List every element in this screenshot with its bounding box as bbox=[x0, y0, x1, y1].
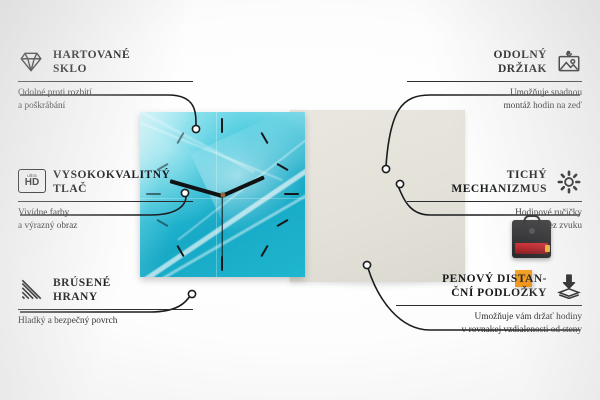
title-line-1: BRÚSENÉ bbox=[53, 276, 111, 290]
infographic-canvas: HARTOVANÉ SKLO Odolné proti rozbití a po… bbox=[0, 0, 600, 400]
feature-divider bbox=[407, 201, 582, 202]
desc-line-1: Vivídne farby bbox=[18, 207, 193, 220]
hour-tick bbox=[284, 193, 299, 195]
desc-line-2: bez zvuku bbox=[407, 220, 582, 233]
title-line-2: SKLO bbox=[53, 62, 130, 76]
diagonal-lines-icon bbox=[18, 277, 44, 303]
feature-header: HARTOVANÉ SKLO bbox=[18, 48, 193, 76]
feature-header: ODOLNÝ DRŽIAK bbox=[407, 48, 582, 76]
feature-foam-spacers: PENOVÝ DISTAN- ČNÍ PODLOŽKY Umožňuje vám… bbox=[396, 272, 582, 337]
desc-line-2: a výrazný obraz bbox=[18, 220, 193, 233]
title-line-2: HRANY bbox=[53, 290, 111, 304]
feature-header: BRÚSENÉ HRANY bbox=[18, 276, 193, 304]
feature-silent-mechanism: TICHÝ MECHANIZMUS Hodinové ručičky bez z… bbox=[407, 168, 582, 233]
desc-line-2: montáž hodin na zeď bbox=[407, 100, 582, 113]
feature-tempered-glass: HARTOVANÉ SKLO Odolné proti rozbití a po… bbox=[18, 48, 193, 113]
feature-durable-hanger: ODOLNÝ DRŽIAK Umožňuje snadnou montáž ho… bbox=[407, 48, 582, 113]
clock-hub bbox=[220, 192, 225, 197]
badge-main-label: HD bbox=[25, 178, 39, 188]
press-layers-icon bbox=[556, 273, 582, 299]
title-line-2: DRŽIAK bbox=[494, 62, 547, 76]
feature-title: PENOVÝ DISTAN- ČNÍ PODLOŽKY bbox=[442, 272, 547, 300]
feature-title: ODOLNÝ DRŽIAK bbox=[494, 48, 547, 76]
battery bbox=[515, 243, 548, 254]
ultra-hd-badge-icon: ultra HD bbox=[18, 169, 44, 195]
feature-description: Umožňuje vám držať hodiny v rovnakej vzd… bbox=[396, 311, 582, 337]
feature-divider bbox=[18, 201, 193, 202]
desc-line-1: Umožňuje snadnou bbox=[407, 87, 582, 100]
desc-line-1: Odolné proti rozbití bbox=[18, 87, 193, 100]
desc-line-1: Hodinové ručičky bbox=[407, 207, 582, 220]
title-line-1: HARTOVANÉ bbox=[53, 48, 130, 62]
feature-description: Vivídne farby a výrazný obraz bbox=[18, 207, 193, 233]
desc-line-1: Hladký a bezpečný povrch bbox=[18, 315, 193, 328]
feature-description: Hladký a bezpečný povrch bbox=[18, 315, 193, 328]
title-line-1: TICHÝ bbox=[451, 168, 547, 182]
feature-ground-edges: BRÚSENÉ HRANY Hladký a bezpečný povrch bbox=[18, 276, 193, 328]
picture-frame-icon bbox=[556, 49, 582, 75]
hour-tick bbox=[221, 118, 223, 133]
feature-divider bbox=[18, 81, 193, 82]
feature-header: PENOVÝ DISTAN- ČNÍ PODLOŽKY bbox=[396, 272, 582, 300]
feature-title: BRÚSENÉ HRANY bbox=[53, 276, 111, 304]
feature-title: TICHÝ MECHANIZMUS bbox=[451, 168, 547, 196]
feature-title: VYSOKOKVALITNÝ TLAČ bbox=[53, 168, 170, 196]
title-line-1: ODOLNÝ bbox=[494, 48, 547, 62]
desc-line-1: Umožňuje vám držať hodiny bbox=[396, 311, 582, 324]
diamond-icon bbox=[18, 49, 44, 75]
feature-hd-print: ultra HD VYSOKOKVALITNÝ TLAČ Vivídne far… bbox=[18, 168, 193, 233]
desc-line-2: a poškrábání bbox=[18, 100, 193, 113]
feature-header: ultra HD VYSOKOKVALITNÝ TLAČ bbox=[18, 168, 193, 196]
title-line-2: ČNÍ PODLOŽKY bbox=[442, 286, 547, 300]
feature-description: Odolné proti rozbití a poškrábání bbox=[18, 87, 193, 113]
gear-icon bbox=[556, 169, 582, 195]
feature-description: Umožňuje snadnou montáž hodin na zeď bbox=[407, 87, 582, 113]
feature-header: TICHÝ MECHANIZMUS bbox=[407, 168, 582, 196]
second-hand bbox=[221, 196, 222, 262]
feature-description: Hodinové ručičky bez zvuku bbox=[407, 207, 582, 233]
title-line-1: PENOVÝ DISTAN- bbox=[442, 272, 547, 286]
desc-line-2: v rovnakej vzdialenosti od steny bbox=[396, 324, 582, 337]
feature-divider bbox=[396, 305, 582, 306]
title-line-1: VYSOKOKVALITNÝ bbox=[53, 168, 170, 182]
feature-divider bbox=[407, 81, 582, 82]
title-line-2: MECHANIZMUS bbox=[451, 182, 547, 196]
title-line-2: TLAČ bbox=[53, 182, 170, 196]
feature-title: HARTOVANÉ SKLO bbox=[53, 48, 130, 76]
feature-divider bbox=[18, 309, 193, 310]
